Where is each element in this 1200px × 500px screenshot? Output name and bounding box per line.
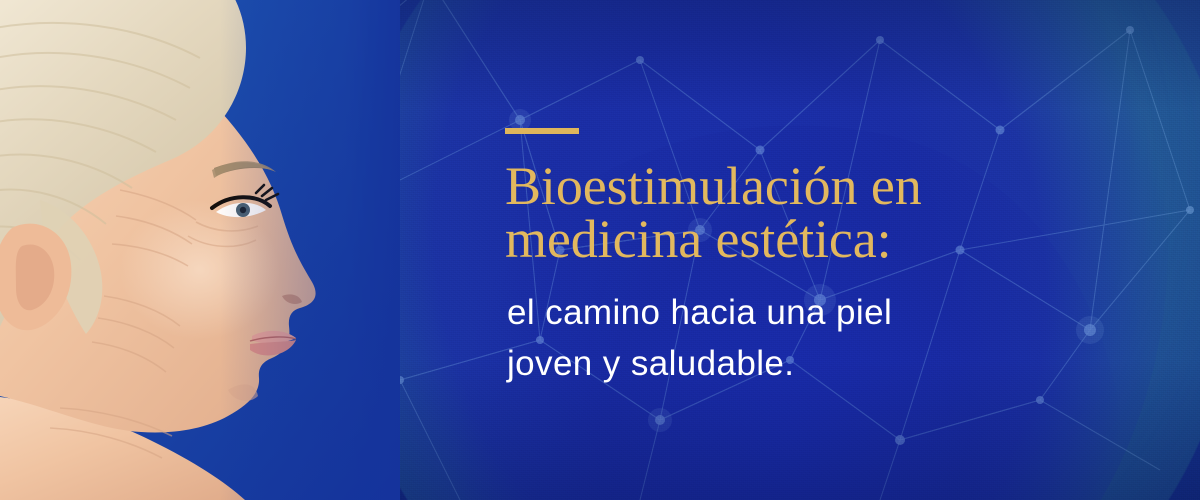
- gold-accent-rule: [505, 128, 579, 134]
- page-subtitle: el camino hacia una piel joven y saludab…: [507, 288, 1025, 390]
- page-title: Bioestimulación en medicina estética:: [505, 160, 1025, 266]
- hero-banner: Bioestimulación en medicina estética: el…: [0, 0, 1200, 500]
- hero-copy-block: Bioestimulación en medicina estética: el…: [505, 128, 1025, 389]
- woman-profile-portrait: [0, 0, 400, 500]
